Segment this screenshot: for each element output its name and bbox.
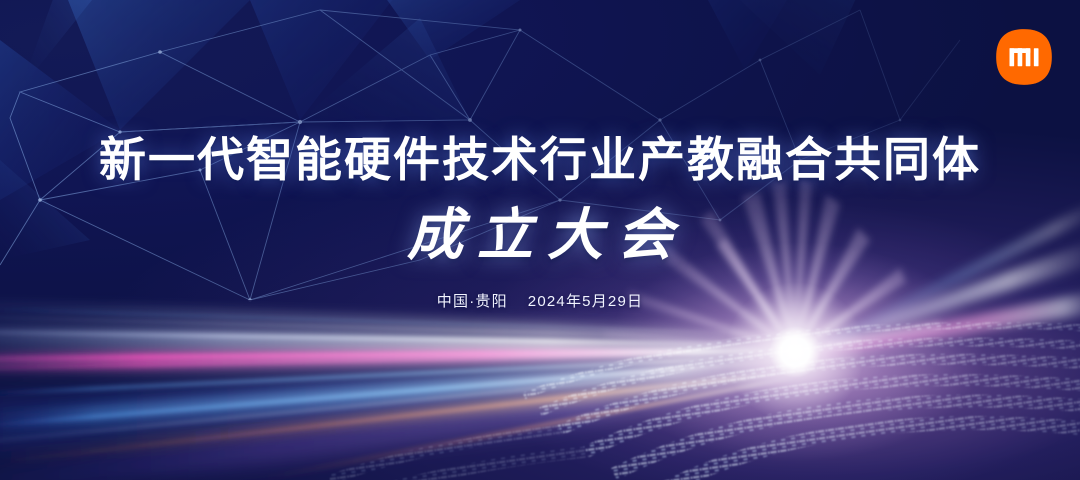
event-location: 中国·贵阳 [437,293,508,310]
event-meta: 中国·贵阳2024年5月29日 [0,294,1080,309]
xiaomi-mi-logo[interactable] [995,28,1053,86]
page-title: 新一代智能硬件技术行业产教融合共同体 [0,136,1080,183]
banner-content: 新一代智能硬件技术行业产教融合共同体 成立大会 中国·贵阳2024年5月29日 [0,0,1080,480]
xiaomi-mi-logo-icon [995,28,1053,86]
event-date: 2024年5月29日 [528,293,643,310]
event-subtitle: 成立大会 [0,207,1080,263]
event-banner: 新一代智能硬件技术行业产教融合共同体 成立大会 中国·贵阳2024年5月29日 [0,0,1080,480]
